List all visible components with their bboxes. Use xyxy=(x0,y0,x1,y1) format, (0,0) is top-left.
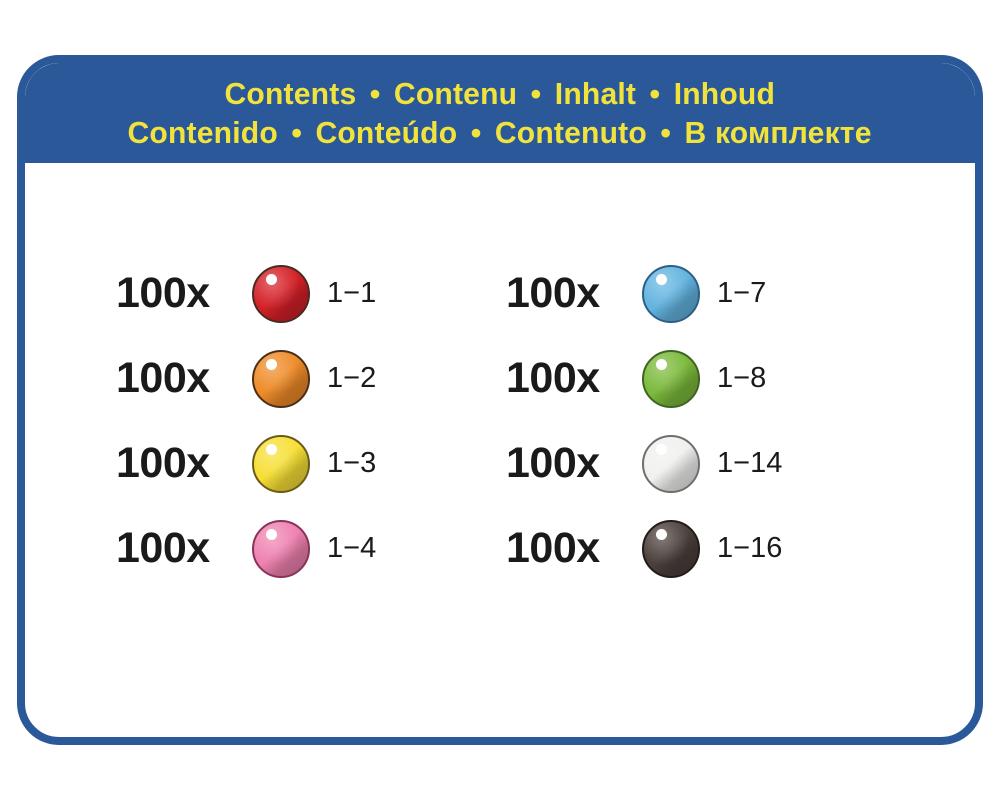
item-quantity: 100x xyxy=(116,527,244,570)
item-code: 1−4 xyxy=(318,532,376,565)
orange-bead-icon xyxy=(252,350,310,408)
bead-highlight-dot xyxy=(656,444,667,455)
item-code: 1−16 xyxy=(708,532,782,565)
header-word-contents: Contents xyxy=(225,76,357,111)
bead-shading xyxy=(254,267,308,321)
header-separator: • xyxy=(287,115,307,150)
items-area: 100x1−1100x1−7100x1−2100x1−8100x1−3100x1… xyxy=(25,163,975,745)
header-line-1: Contents • Contenu • Inhalt • Inhoud xyxy=(225,75,776,113)
header-word-contenido: Contenido xyxy=(128,115,278,150)
bead-swatch xyxy=(244,520,318,578)
item-row: 100x1−8 xyxy=(500,336,890,421)
bead-shading xyxy=(644,437,698,491)
blue-bead-icon xyxy=(642,265,700,323)
item-code: 1−1 xyxy=(318,277,376,310)
item-row: 100x1−3 xyxy=(110,421,500,506)
bead-highlight-dot xyxy=(656,359,667,370)
red-bead-icon xyxy=(252,265,310,323)
pink-bead-icon xyxy=(252,520,310,578)
bead-highlight-dot xyxy=(266,359,277,370)
header-line-2: Contenido • Conteúdo • Contenuto • В ком… xyxy=(128,114,872,152)
bead-swatch xyxy=(244,435,318,493)
item-row: 100x1−7 xyxy=(500,251,890,336)
bead-shading xyxy=(644,522,698,576)
header-word-conteudo: Conteúdo xyxy=(316,115,458,150)
header-separator: • xyxy=(656,115,676,150)
item-row: 100x1−2 xyxy=(110,336,500,421)
item-code: 1−8 xyxy=(708,362,766,395)
item-quantity: 100x xyxy=(506,357,634,400)
contents-panel: Contents • Contenu • Inhalt • Inhoud Con… xyxy=(17,55,983,745)
bead-swatch xyxy=(634,520,708,578)
yellow-bead-icon xyxy=(252,435,310,493)
item-row: 100x1−4 xyxy=(110,506,500,591)
contents-page: Contents • Contenu • Inhalt • Inhoud Con… xyxy=(0,0,1000,800)
item-quantity: 100x xyxy=(116,442,244,485)
bead-highlight-dot xyxy=(266,444,277,455)
header-separator: • xyxy=(365,76,385,111)
header-word-inhalt: Inhalt xyxy=(555,76,636,111)
bead-highlight-dot xyxy=(266,529,277,540)
bead-swatch xyxy=(244,350,318,408)
header-word-contenu: Contenu xyxy=(394,76,517,111)
header-separator: • xyxy=(526,76,546,111)
bead-swatch xyxy=(634,435,708,493)
header-separator: • xyxy=(466,115,486,150)
header-band: Contents • Contenu • Inhalt • Inhoud Con… xyxy=(25,63,975,163)
item-code: 1−2 xyxy=(318,362,376,395)
item-quantity: 100x xyxy=(506,442,634,485)
bead-highlight-dot xyxy=(656,529,667,540)
bead-shading xyxy=(644,267,698,321)
bead-swatch xyxy=(634,265,708,323)
header-separator: • xyxy=(645,76,665,111)
item-code: 1−7 xyxy=(708,277,766,310)
item-quantity: 100x xyxy=(506,272,634,315)
header-word-v-komplekte: В комплекте xyxy=(685,115,872,150)
header-word-contenuto: Contenuto xyxy=(495,115,647,150)
item-row: 100x1−16 xyxy=(500,506,890,591)
item-row: 100x1−14 xyxy=(500,421,890,506)
bead-highlight-dot xyxy=(656,274,667,285)
item-code: 1−14 xyxy=(708,447,782,480)
bead-shading xyxy=(254,352,308,406)
bead-shading xyxy=(254,522,308,576)
white-bead-icon xyxy=(642,435,700,493)
item-quantity: 100x xyxy=(116,357,244,400)
bead-highlight-dot xyxy=(266,274,277,285)
header-word-inhoud: Inhoud xyxy=(674,76,775,111)
bead-shading xyxy=(644,352,698,406)
bead-shading xyxy=(254,437,308,491)
dark-brown-bead-icon xyxy=(642,520,700,578)
items-grid: 100x1−1100x1−7100x1−2100x1−8100x1−3100x1… xyxy=(110,251,890,745)
item-quantity: 100x xyxy=(116,272,244,315)
item-quantity: 100x xyxy=(506,527,634,570)
bead-swatch xyxy=(634,350,708,408)
item-row: 100x1−1 xyxy=(110,251,500,336)
bead-swatch xyxy=(244,265,318,323)
green-bead-icon xyxy=(642,350,700,408)
item-code: 1−3 xyxy=(318,447,376,480)
